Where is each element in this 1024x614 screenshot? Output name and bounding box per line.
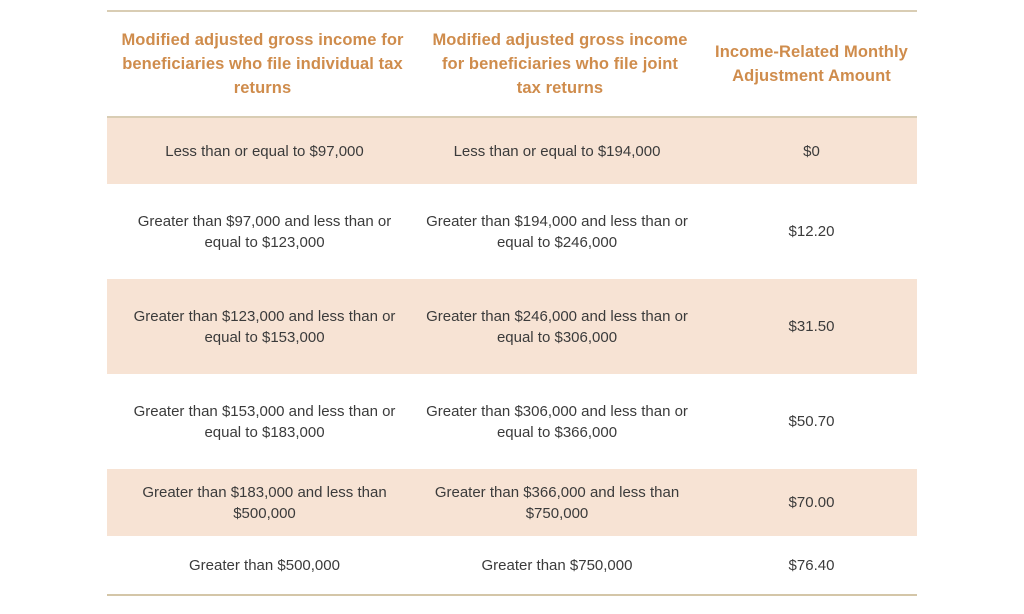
cell-joint-income: Less than or equal to $194,000 — [418, 118, 706, 184]
cell-monthly-adjustment: $76.40 — [706, 536, 917, 594]
cell-monthly-adjustment: $31.50 — [706, 279, 917, 374]
cell-monthly-adjustment: $0 — [706, 118, 917, 184]
column-header-joint-income: Modified adjusted gross income for benef… — [418, 12, 706, 116]
header-row: Modified adjusted gross income for benef… — [107, 12, 917, 116]
cell-monthly-adjustment: $50.70 — [706, 374, 917, 469]
column-header-individual-income: Modified adjusted gross income for benef… — [107, 12, 418, 116]
cell-monthly-adjustment: $12.20 — [706, 184, 917, 279]
column-header-monthly-adjustment: Income-Related Monthly Adjustment Amount — [706, 12, 917, 116]
cell-individual-income: Greater than $500,000 — [107, 536, 418, 594]
cell-joint-income: Greater than $194,000 and less than or e… — [418, 184, 706, 279]
cell-individual-income: Greater than $97,000 and less than or eq… — [107, 184, 418, 279]
table-header: Modified adjusted gross income for benef… — [107, 12, 917, 116]
table-body: Less than or equal to $97,000 Less than … — [107, 118, 917, 594]
irmaa-table-container: Modified adjusted gross income for benef… — [107, 10, 917, 596]
cell-individual-income: Greater than $183,000 and less than $500… — [107, 469, 418, 536]
table-row: Greater than $123,000 and less than or e… — [107, 279, 917, 374]
cell-individual-income: Less than or equal to $97,000 — [107, 118, 418, 184]
table-row: Greater than $500,000 Greater than $750,… — [107, 536, 917, 594]
cell-individual-income: Greater than $123,000 and less than or e… — [107, 279, 418, 374]
table-bottom-rule — [107, 594, 917, 596]
cell-joint-income: Greater than $306,000 and less than or e… — [418, 374, 706, 469]
table-row: Greater than $97,000 and less than or eq… — [107, 184, 917, 279]
irmaa-premium-table: Modified adjusted gross income for benef… — [107, 12, 917, 116]
table-row: Less than or equal to $97,000 Less than … — [107, 118, 917, 184]
cell-joint-income: Greater than $750,000 — [418, 536, 706, 594]
table-row: Greater than $153,000 and less than or e… — [107, 374, 917, 469]
table-row: Greater than $183,000 and less than $500… — [107, 469, 917, 536]
cell-joint-income: Greater than $366,000 and less than $750… — [418, 469, 706, 536]
cell-monthly-adjustment: $70.00 — [706, 469, 917, 536]
cell-joint-income: Greater than $246,000 and less than or e… — [418, 279, 706, 374]
document-page: Modified adjusted gross income for benef… — [0, 0, 1024, 614]
cell-individual-income: Greater than $153,000 and less than or e… — [107, 374, 418, 469]
irmaa-premium-table-body: Less than or equal to $97,000 Less than … — [107, 118, 917, 594]
